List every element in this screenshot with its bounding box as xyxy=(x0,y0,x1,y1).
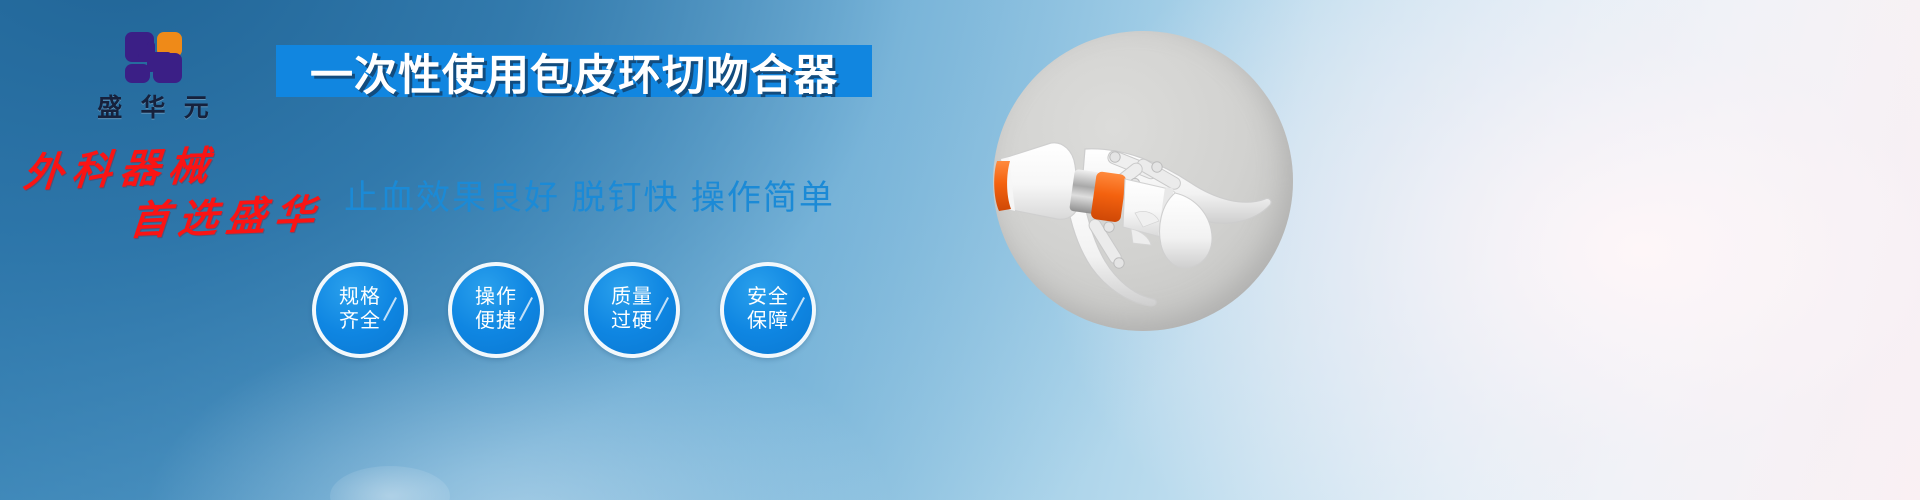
headline-bar: 一次性使用包皮环切吻合器 xyxy=(276,45,872,97)
logo-block-bottom-left xyxy=(125,64,150,83)
feature-badge[interactable]: 质量 过硬 xyxy=(584,262,680,358)
feature-badge-line-1: 安全 xyxy=(747,286,789,310)
feature-badge-line-1: 质量 xyxy=(611,286,653,310)
background-watermark xyxy=(330,466,450,500)
brand-logo[interactable]: 盛 华 元 xyxy=(63,24,243,124)
feature-badge[interactable]: 安全 保障 xyxy=(720,262,816,358)
brand-name: 盛 华 元 xyxy=(63,88,243,124)
product-image[interactable] xyxy=(993,31,1293,331)
feature-badge[interactable]: 操作 便捷 xyxy=(448,262,544,358)
disposable-circumcision-stapler-illustration xyxy=(993,31,1293,331)
slogan-line-2: 首选盛华 xyxy=(128,194,324,241)
logo-mark-icon xyxy=(125,24,181,82)
subtitle-text: 止血效果良好 脱钉快 操作简单 xyxy=(344,170,835,219)
feature-badge-list: 规格 齐全 操作 便捷 质量 过硬 安全 保障 xyxy=(312,262,816,358)
feature-badge-line-2: 过硬 xyxy=(611,310,653,334)
feature-badge-line-2: 齐全 xyxy=(339,310,381,334)
feature-badge-line-2: 便捷 xyxy=(475,310,517,334)
headline-text: 一次性使用包皮环切吻合器 xyxy=(310,41,838,103)
slogan-group: 外科器械 首选盛华 xyxy=(24,148,322,238)
feature-badge-line-1: 规格 xyxy=(339,286,381,310)
feature-badge-line-2: 保障 xyxy=(747,310,789,334)
feature-badge-line-1: 操作 xyxy=(475,286,517,310)
logo-block-bottom-right xyxy=(153,53,182,83)
feature-badge[interactable]: 规格 齐全 xyxy=(312,262,408,358)
promo-banner: 盛 华 元 一次性使用包皮环切吻合器 外科器械 首选盛华 止血效果良好 脱钉快 … xyxy=(0,0,1920,500)
slogan-line-1: 外科器械 xyxy=(22,142,325,193)
product-disc-background xyxy=(993,31,1293,331)
